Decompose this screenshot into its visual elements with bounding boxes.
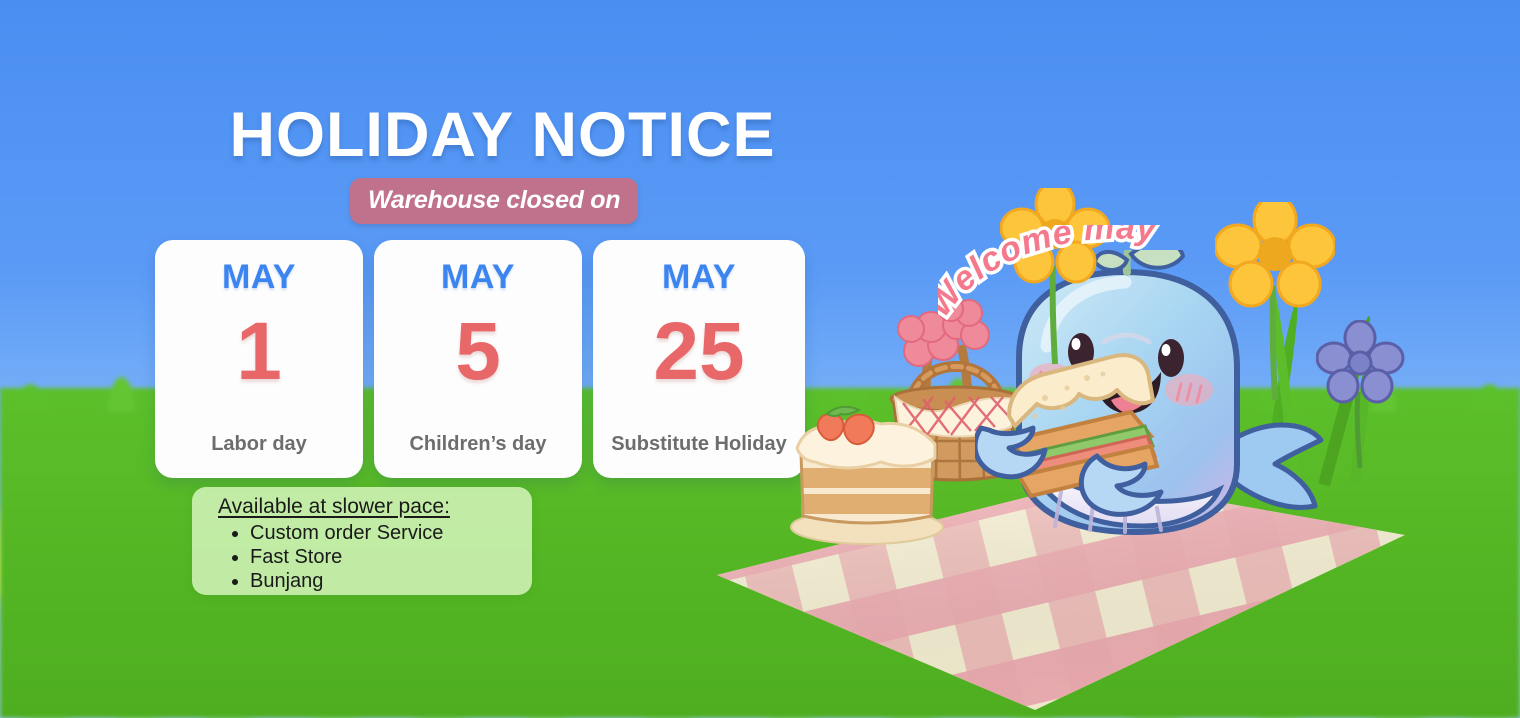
card-label: Children’s day <box>374 433 582 456</box>
status-badge: Warehouse closed on <box>350 178 638 224</box>
note-list: Custom order Service Fast Store Bunjang <box>250 521 532 593</box>
slower-pace-note: Available at slower pace: Custom order S… <box>192 487 532 595</box>
list-item: Fast Store <box>250 545 532 569</box>
card-month: MAY <box>441 258 515 297</box>
holiday-card[interactable]: MAY 5 Children’s day <box>374 240 582 478</box>
page-title: HOLIDAY NOTICE <box>0 104 1005 167</box>
list-item: Custom order Service <box>250 521 532 545</box>
note-title: Available at slower pace: <box>218 495 532 519</box>
card-day: 5 <box>455 311 501 393</box>
banner-scene: HOLIDAY NOTICE Warehouse closed on MAY 1… <box>0 0 1520 718</box>
strawberry-cake <box>785 390 950 545</box>
card-label: Labor day <box>155 433 363 456</box>
picnic-illustration: Welcome may!! <box>700 180 1460 718</box>
yellow-flower <box>1000 188 1110 368</box>
holiday-card[interactable]: MAY 1 Labor day <box>155 240 363 478</box>
card-month: MAY <box>222 258 296 297</box>
list-item: Bunjang <box>250 569 532 593</box>
purple-flower <box>1316 320 1406 470</box>
card-day: 1 <box>236 311 282 393</box>
